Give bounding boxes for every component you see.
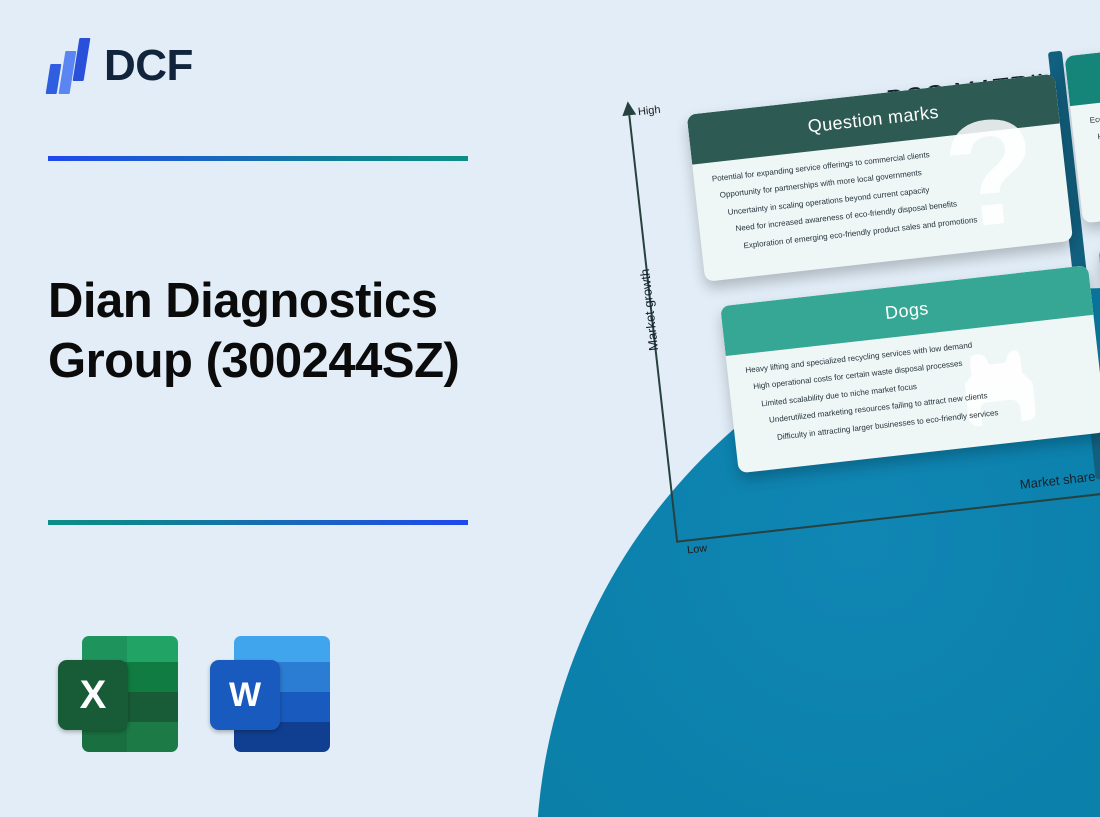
x-axis-line (676, 485, 1100, 543)
download-icons-group: X W (58, 636, 330, 752)
word-badge-letter: W (210, 660, 280, 730)
brand-logo[interactable]: DCF (48, 38, 193, 94)
quadrant-dogs: Dogs Heavy lifting and specialized recyc… (720, 265, 1100, 473)
x-axis-label: Market share (1019, 469, 1096, 492)
brand-name: DCF (104, 44, 193, 88)
excel-file-icon[interactable]: X (58, 636, 178, 752)
dcf-bars-logo-icon (48, 38, 92, 94)
bcg-matrix-chart: High Low Market growth Market share Star… (604, 34, 1100, 613)
y-axis-high-label: High (637, 104, 661, 118)
divider-top (48, 156, 468, 161)
quadrant-stars-title: Stars (1064, 15, 1100, 106)
page-title: Dian Diagnostics Group (300244SZ) (48, 272, 548, 392)
y-axis-low-label: Low (687, 542, 708, 556)
y-axis-arrow-icon (621, 101, 636, 116)
word-file-icon[interactable]: W (210, 636, 330, 752)
divider-bottom (48, 520, 468, 525)
left-content-panel: DCF Dian Diagnostics Group (300244SZ) X … (0, 0, 560, 817)
y-axis-label: Market growth (633, 234, 665, 385)
excel-badge-letter: X (58, 660, 128, 730)
quadrant-question-marks: Question marks ? Potential for expanding… (687, 74, 1073, 282)
